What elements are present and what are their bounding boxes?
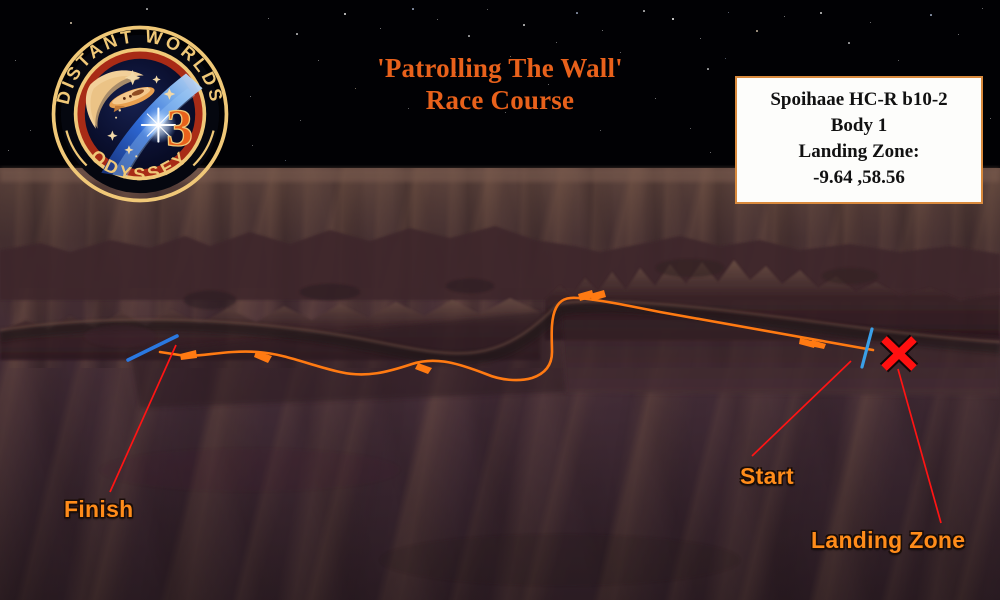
- info-body-name: Body 1: [743, 113, 975, 139]
- label-finish: Finish: [64, 496, 134, 523]
- page-title: 'Patrolling The Wall' Race Course: [300, 52, 700, 116]
- title-line-2: Race Course: [300, 84, 700, 116]
- title-line-1: 'Patrolling The Wall': [377, 53, 623, 83]
- distant-worlds-odyssey-logo: 3 DISTANT WORLDS ODYSSEY: [44, 22, 236, 206]
- info-system-name: Spoihaae HC-R b10-2: [743, 87, 975, 113]
- info-coordinates: -9.64 ,58.56: [743, 165, 975, 191]
- race-course-map-screenshot: 3 DISTANT WORLDS ODYSSEY 'Patrolling The…: [0, 0, 1000, 600]
- info-landing-zone-label: Landing Zone:: [743, 139, 975, 165]
- landing-zone-info-box: Spoihaae HC-R b10-2 Body 1 Landing Zone:…: [735, 76, 983, 204]
- label-start: Start: [740, 463, 794, 490]
- label-landing-zone: Landing Zone: [811, 527, 965, 554]
